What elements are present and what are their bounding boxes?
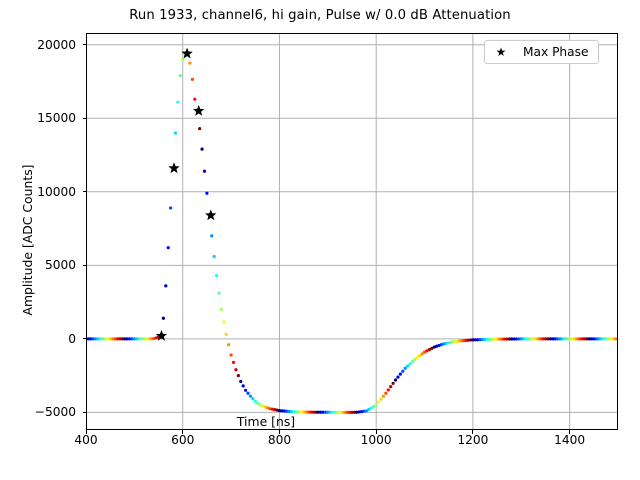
y-tick-mark [83,265,87,266]
y-tick-label: 5000 [45,258,76,272]
x-tick-mark [86,430,87,434]
x-tick-label: 1200 [457,433,488,447]
y-tick-mark [83,191,87,192]
x-tick-label: 600 [171,433,194,447]
page-title: Run 1933, channel6, hi gain, Pulse w/ 0.… [0,8,640,23]
x-tick-label: 800 [268,433,291,447]
y-tick-mark [83,338,87,339]
y-tick-mark [83,412,87,413]
y-tick-label: 15000 [37,111,76,125]
y-axis-label: Amplitude [ADC Counts] [20,165,35,316]
x-tick-label: 1000 [361,433,392,447]
x-axis-label: Time [ns] [0,414,532,429]
star-icon: ★ [493,46,509,58]
y-tick-mark [83,118,87,119]
legend: ★ Max Phase [484,40,599,64]
y-tick-label: 0 [68,332,76,346]
x-tick-label: 400 [74,433,97,447]
y-tick-label: 20000 [37,38,76,52]
axes-frame [86,33,618,430]
x-tick-mark [569,430,570,434]
y-tick-mark [83,44,87,45]
x-tick-mark [376,430,377,434]
x-tick-mark [279,430,280,434]
plot-axes: 400600800100012001400−500005000100001500… [86,33,618,430]
matplotlib-figure: Run 1933, channel6, hi gain, Pulse w/ 0.… [0,0,640,480]
x-tick-mark [472,430,473,434]
legend-item-label: Max Phase [523,45,588,59]
y-tick-label: 10000 [37,185,76,199]
x-tick-label: 1400 [554,433,585,447]
x-tick-mark [182,430,183,434]
